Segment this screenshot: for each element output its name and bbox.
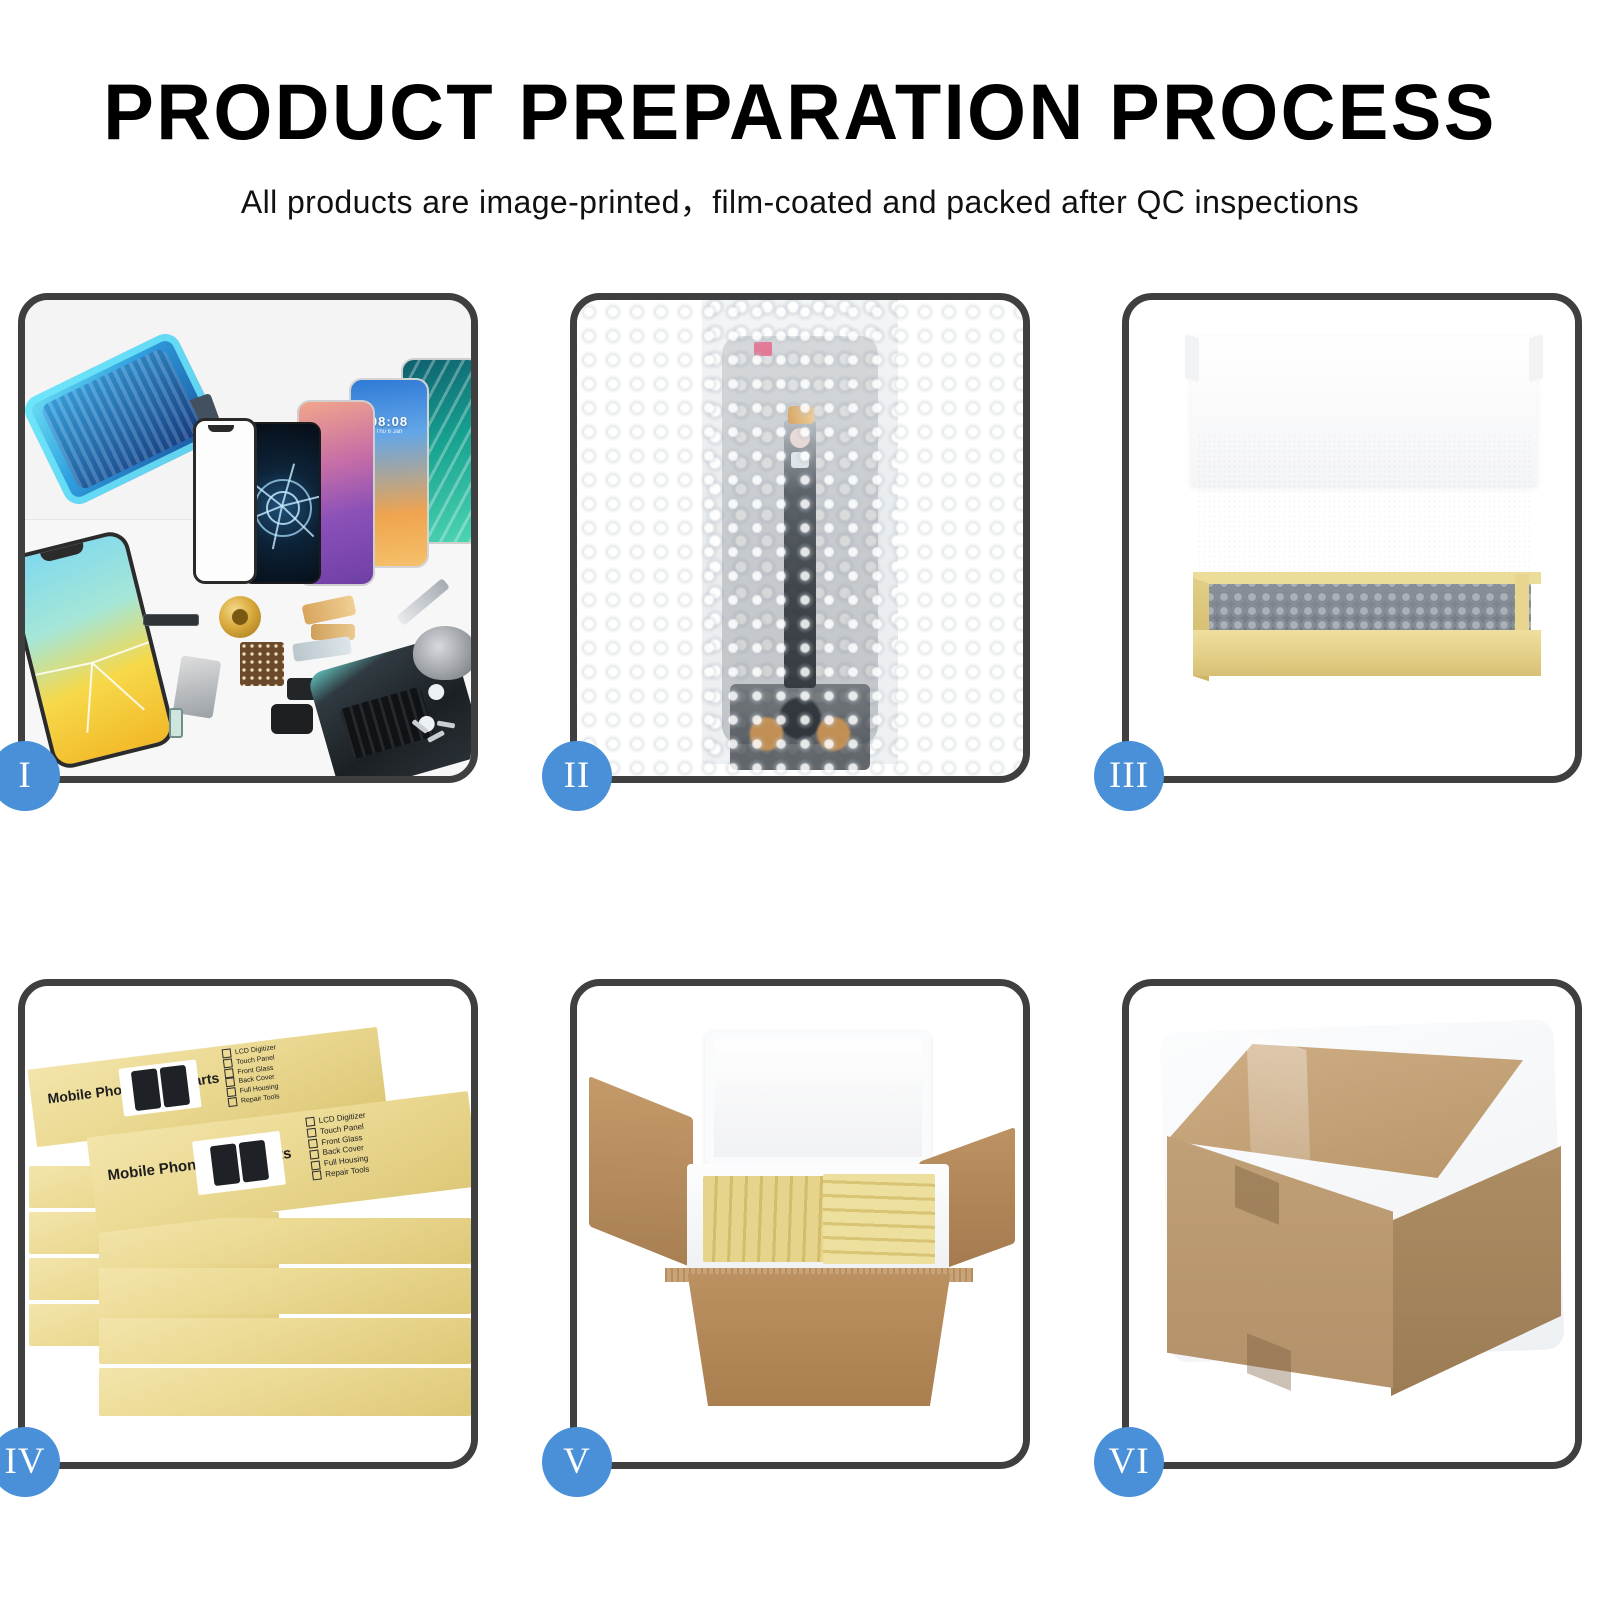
step-1-image: 08:08 Thu 6 Jan [25,300,471,776]
front-glass-panel-icon [193,418,257,584]
bottom-connectors-icon [730,684,870,770]
step-2-image [577,300,1023,776]
screws-icon [411,720,459,748]
box-thumbnail-image [192,1131,286,1195]
gold-box-front-icon [1193,630,1541,676]
step-card-4: Mobile Phone Spare Parts LCD Digitizer T… [18,979,478,1469]
box-checklist: LCD Digitizer Touch Panel Front Glass Ba… [222,1043,283,1108]
connector-icon [788,406,814,424]
step-card-6: VI [1122,979,1582,1469]
gold-box-stacked [99,1318,471,1364]
step-3-image [1129,300,1575,776]
camera-hole-icon [790,428,810,448]
box-lip-icon [1193,572,1541,584]
box-right-wall-icon [1515,574,1529,636]
step-badge-3: III [1094,741,1164,811]
sim-tray-icon [169,708,183,738]
foam-sheet-icon [1197,434,1533,582]
gold-box-stacked [99,1268,471,1314]
step-card-3: III [1122,293,1582,783]
step-card-5: V [570,979,1030,1469]
page-subtitle: All products are image-printed，film-coat… [0,177,1600,223]
page-header: PRODUCT PREPARATION PROCESS All products… [0,0,1600,223]
step-badge-2: II [542,741,612,811]
carton-body-icon [673,1274,965,1406]
gold-boxes-inside-icon [823,1174,935,1264]
bubble-wrap-layer-icon [1203,576,1531,636]
earpiece-mesh-icon [143,614,199,626]
process-steps-grid: 08:08 Thu 6 Jan [18,293,1582,1469]
gold-box-stacked [99,1368,471,1416]
taptic-engine-icon [219,596,261,638]
carton-flap-left-icon [589,1076,693,1268]
step-card-2: II [570,293,1030,783]
sensor-icon [791,452,809,468]
camera-module-icon [271,704,313,734]
box-thumbnail-image [118,1059,201,1116]
step-badge-5: V [542,1427,612,1497]
cleaning-brush-icon [413,626,471,680]
step-5-image [577,986,1023,1462]
box-checklist: LCD Digitizer Touch Panel Front Glass Ba… [305,1111,373,1183]
page-title: PRODUCT PREPARATION PROCESS [32,72,1568,151]
foam-lid-icon [705,1030,931,1166]
step-card-1: 08:08 Thu 6 Jan [18,293,478,783]
ic-chip-icon [240,642,284,686]
step-4-image: Mobile Phone Spare Parts LCD Digitizer T… [25,986,471,1462]
step-badge-6: VI [1094,1427,1164,1497]
qc-sticker-icon [754,342,772,356]
step-6-image [1129,986,1575,1462]
